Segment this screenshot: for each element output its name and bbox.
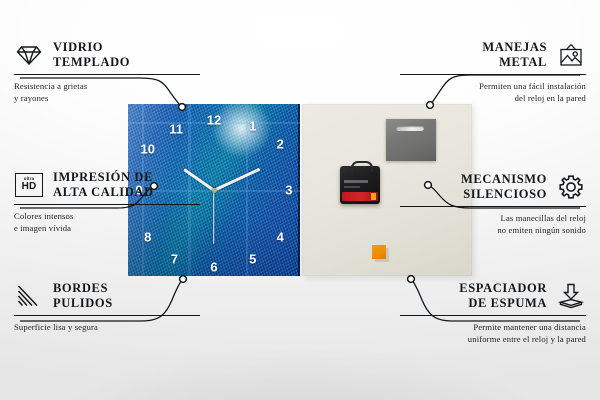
clock-numeral-12: 12 xyxy=(207,114,221,127)
clock-numeral-5: 5 xyxy=(249,252,256,265)
callout-header: ultra HD IMPRESIÓN DEALTA CALIDAD xyxy=(14,170,200,200)
callout-desc-line1: Las manecillas del reloj xyxy=(501,213,586,223)
infographic-canvas: 12 1 2 3 4 5 6 7 8 9 10 11 xyxy=(0,0,600,400)
hanger-slot xyxy=(396,126,424,131)
callout-header: MECANISMOSILENCIOSO xyxy=(400,172,586,202)
callout-description: Permiten una fácil instalacióndel reloj … xyxy=(400,80,586,104)
callout-header: MANEJASMETAL xyxy=(400,40,586,70)
ultra-hd-icon: ultra HD xyxy=(14,172,44,198)
clock-numeral-10: 10 xyxy=(141,142,155,155)
callout-title-line1: MECANISMO xyxy=(461,172,547,186)
callout-title-line1: VIDRIO xyxy=(53,40,103,54)
clock-numeral-1: 1 xyxy=(249,119,256,132)
callout-divider xyxy=(14,315,200,316)
clock-numeral-2: 2 xyxy=(277,138,284,151)
callout-description: Las manecillas del relojno emiten ningún… xyxy=(400,212,586,236)
callout-title-line2: DE ESPUMA xyxy=(468,296,547,310)
clock-numeral-7: 7 xyxy=(171,252,178,265)
callout-desc-line1: Colores intensos xyxy=(14,211,73,221)
movement-hook xyxy=(351,161,373,172)
battery-tip xyxy=(371,193,376,200)
callout-desc-line2: no emiten ningún sonido xyxy=(497,225,586,235)
callout-divider xyxy=(14,204,200,205)
callout-desc-line2: e imagen vívida xyxy=(14,223,71,233)
callout-impresion-alta-calidad[interactable]: ultra HD IMPRESIÓN DEALTA CALIDAD Colore… xyxy=(14,170,200,234)
callout-divider xyxy=(400,206,586,207)
callout-desc-line2: y rayones xyxy=(14,93,49,103)
callout-desc-line2: uniforme entre el reloj y la pared xyxy=(468,334,586,344)
callout-description: Colores intensose imagen vívida xyxy=(14,210,200,234)
callout-description: Superficie lisa y segura xyxy=(14,321,200,333)
callout-title-line1: BORDES xyxy=(53,281,108,295)
clock-numeral-3: 3 xyxy=(285,184,292,197)
movement-label-secondary xyxy=(344,186,360,188)
callout-header: VIDRIOTEMPLADO xyxy=(14,40,200,70)
callout-desc-line1: Superficie lisa y segura xyxy=(14,322,98,332)
callout-desc-line1: Permite mantener una distancia xyxy=(473,322,586,332)
callout-title-line1: MANEJAS xyxy=(482,40,547,54)
wall-frame-hanger-icon xyxy=(556,42,586,68)
foam-spacer-icon xyxy=(556,283,586,309)
callout-title: VIDRIOTEMPLADO xyxy=(53,40,130,70)
gear-icon xyxy=(556,174,586,200)
battery xyxy=(342,192,378,201)
callout-title-line1: IMPRESIÓN DE xyxy=(53,170,153,184)
callout-header: BORDESPULIDOS xyxy=(14,281,200,311)
callout-description: Resistencia a grietasy rayones xyxy=(14,80,200,104)
polished-edge-icon xyxy=(14,283,44,309)
metal-hanger-plate xyxy=(386,119,436,161)
callout-vidrio-templado[interactable]: VIDRIOTEMPLADO Resistencia a grietasy ra… xyxy=(14,40,200,104)
callout-divider xyxy=(400,315,586,316)
callout-espaciador-espuma[interactable]: ESPACIADORDE ESPUMA Permite mantener una… xyxy=(400,281,586,345)
movement-label xyxy=(344,180,368,183)
callout-title-line2: PULIDOS xyxy=(53,296,113,310)
callout-title-line2: METAL xyxy=(499,55,547,69)
callout-title: MECANISMOSILENCIOSO xyxy=(461,172,547,202)
clock-center-cap xyxy=(212,188,217,193)
callout-divider xyxy=(14,74,200,75)
callout-title-line2: TEMPLADO xyxy=(53,55,130,69)
callout-title-line1: ESPACIADOR xyxy=(459,281,547,295)
callout-title: ESPACIADORDE ESPUMA xyxy=(459,281,547,311)
ultra-hd-large-label: HD xyxy=(22,182,37,192)
callout-header: ESPACIADORDE ESPUMA xyxy=(400,281,586,311)
foam-spacer xyxy=(372,245,386,259)
clock-numeral-11: 11 xyxy=(169,122,183,135)
callout-desc-line2: del reloj en la pared xyxy=(515,93,586,103)
callout-manejas-metal[interactable]: MANEJASMETAL Permiten una fácil instalac… xyxy=(400,40,586,104)
clock-numeral-6: 6 xyxy=(210,260,217,273)
callout-title-line2: SILENCIOSO xyxy=(463,187,547,201)
callout-desc-line1: Resistencia a grietas xyxy=(14,81,87,91)
callout-title: IMPRESIÓN DEALTA CALIDAD xyxy=(53,170,154,200)
callout-title-line2: ALTA CALIDAD xyxy=(53,185,154,199)
clock-numeral-4: 4 xyxy=(277,231,284,244)
callout-bordes-pulidos[interactable]: BORDESPULIDOS Superficie lisa y segura xyxy=(14,281,200,333)
callout-title: BORDESPULIDOS xyxy=(53,281,113,311)
callout-divider xyxy=(400,74,586,75)
diamond-icon xyxy=(14,42,44,68)
callout-title: MANEJASMETAL xyxy=(482,40,547,70)
callout-description: Permite mantener una distanciauniforme e… xyxy=(400,321,586,345)
quartz-movement xyxy=(340,166,380,204)
callout-mecanismo-silencioso[interactable]: MECANISMOSILENCIOSO Las manecillas del r… xyxy=(400,172,586,236)
callout-desc-line1: Permiten una fácil instalación xyxy=(479,81,586,91)
